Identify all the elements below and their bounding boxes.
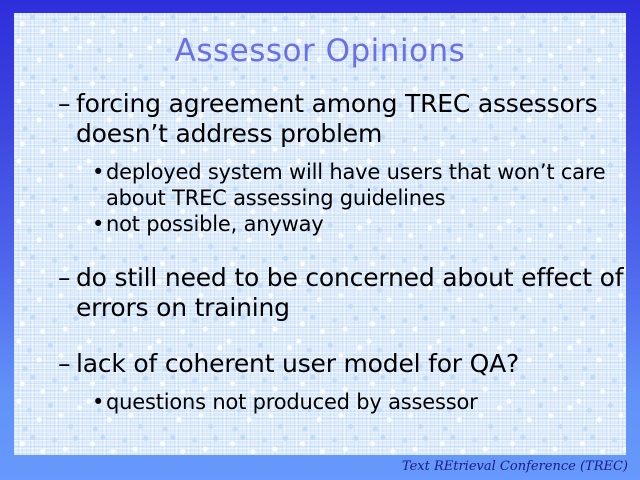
bullet-text: not possible, anyway: [92, 211, 626, 237]
presentation-slide: Assessor Opinions – forcing agreement am…: [0, 0, 640, 480]
bullet-dot-marker: •: [92, 389, 106, 415]
bullet-level2-questions-not-produced: • questions not produced by assessor: [14, 389, 626, 415]
spacer: [14, 323, 626, 349]
bullet-level2-deployed-system: • deployed system will have users that w…: [14, 159, 626, 211]
bullet-level1-user-model-qa: – lack of coherent user model for QA?: [14, 349, 626, 379]
bullet-text: deployed system will have users that won…: [92, 159, 626, 211]
footer-conference-label: Text REtrieval Conference (TREC): [402, 458, 628, 476]
bullet-text: lack of coherent user model for QA?: [58, 349, 626, 379]
slide-title: Assessor Opinions: [14, 33, 626, 69]
bullet-dash-marker: –: [58, 349, 76, 379]
bullet-level1-forcing-agreement: – forcing agreement among TREC assessors…: [14, 89, 626, 149]
bullet-text: do still need to be concerned about effe…: [58, 263, 626, 323]
spacer: [14, 149, 626, 159]
bullet-dash-marker: –: [58, 263, 76, 293]
slide-body: – forcing agreement among TREC assessors…: [14, 89, 626, 415]
slide-content-panel: Assessor Opinions – forcing agreement am…: [14, 13, 626, 455]
bullet-dash-marker: –: [58, 89, 76, 119]
bullet-text: forcing agreement among TREC assessors d…: [58, 89, 626, 149]
bullet-level1-errors-on-training: – do still need to be concerned about ef…: [14, 263, 626, 323]
spacer: [14, 379, 626, 389]
bullet-level2-not-possible: • not possible, anyway: [14, 211, 626, 237]
bullet-dot-marker: •: [92, 159, 106, 185]
bullet-text: questions not produced by assessor: [92, 389, 626, 415]
spacer: [14, 237, 626, 263]
bullet-dot-marker: •: [92, 211, 106, 237]
